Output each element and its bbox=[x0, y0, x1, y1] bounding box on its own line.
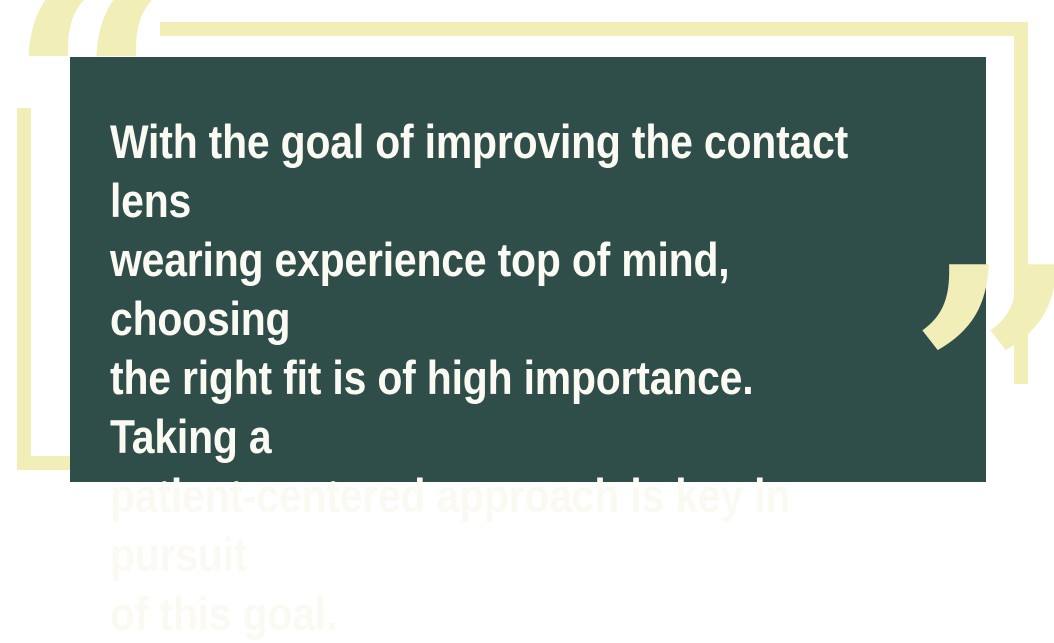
close-quotation-mark-icon: ” bbox=[908, 228, 1054, 528]
quote-text: With the goal of improving the contact l… bbox=[110, 112, 858, 643]
pullquote-graphic: “ With the goal of improving the contact… bbox=[0, 0, 1054, 502]
frame-top-horizontal-bar bbox=[160, 22, 1028, 36]
